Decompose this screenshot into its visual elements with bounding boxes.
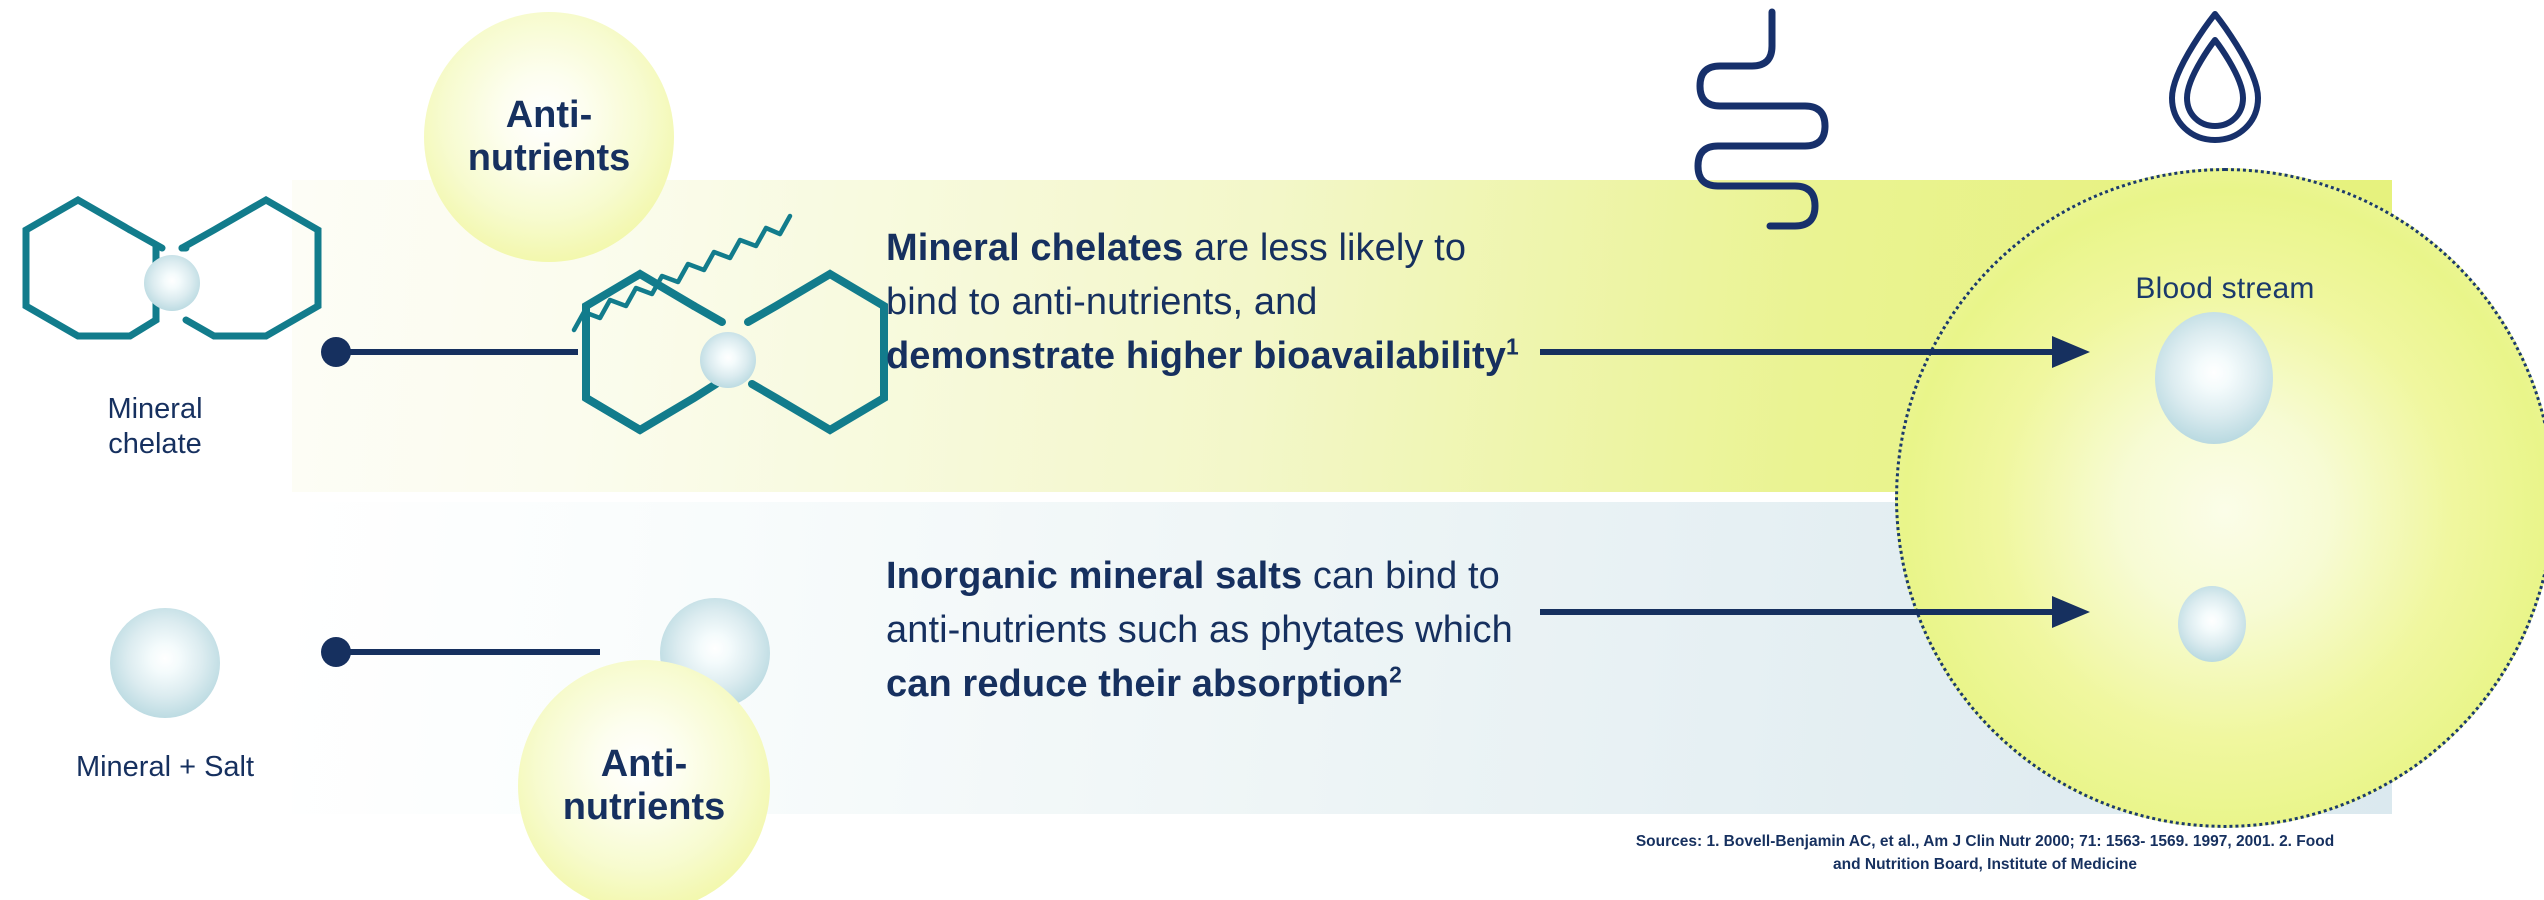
vector-overlay xyxy=(0,0,2544,900)
arrowhead-chelate xyxy=(2052,336,2090,368)
anti-nutrients-bubble-bottom-line1: Anti- xyxy=(601,743,688,785)
mineral-sphere-chelate-left xyxy=(144,255,200,311)
mineral-sphere-chelate-mid xyxy=(700,332,756,388)
anti-nutrients-bubble-top: Anti- nutrients xyxy=(424,12,674,262)
anti-nutrients-bubble-bottom: Anti- nutrients xyxy=(518,660,770,900)
mineral-sphere-salt-left xyxy=(110,608,220,718)
arrowhead-salt xyxy=(2052,596,2090,628)
copy-chelate: Mineral chelates are less likely to bind… xyxy=(886,222,1526,384)
connector-dot-salt xyxy=(321,637,351,667)
sources-line1: Sources: 1. Bovell-Benjamin AC, et al., … xyxy=(1636,833,2146,850)
intestine-icon xyxy=(1698,12,1825,226)
label-mineral-salt: Mineral + Salt xyxy=(0,750,330,785)
label-mineral-chelate: Mineral chelate xyxy=(30,392,280,463)
label-mineral-chelate-line2: chelate xyxy=(108,428,202,460)
anti-nutrients-bubble-bottom-line2: nutrients xyxy=(563,786,726,828)
anti-nutrients-bubble-top-line1: Anti- xyxy=(506,94,593,136)
connector-dot-chelate xyxy=(321,337,351,367)
anti-nutrients-bubble-top-line2: nutrients xyxy=(468,137,631,179)
infographic-canvas: Blood stream xyxy=(0,0,2544,900)
label-mineral-chelate-line1: Mineral xyxy=(107,393,202,425)
sources-citation: Sources: 1. Bovell-Benjamin AC, et al., … xyxy=(1630,830,2340,877)
copy-salt: Inorganic mineral salts can bind to anti… xyxy=(886,550,1526,712)
mineral-sphere-bloodstream-large xyxy=(2155,312,2273,444)
mineral-sphere-bloodstream-small xyxy=(2178,586,2246,662)
droplet-icon xyxy=(2172,14,2258,140)
